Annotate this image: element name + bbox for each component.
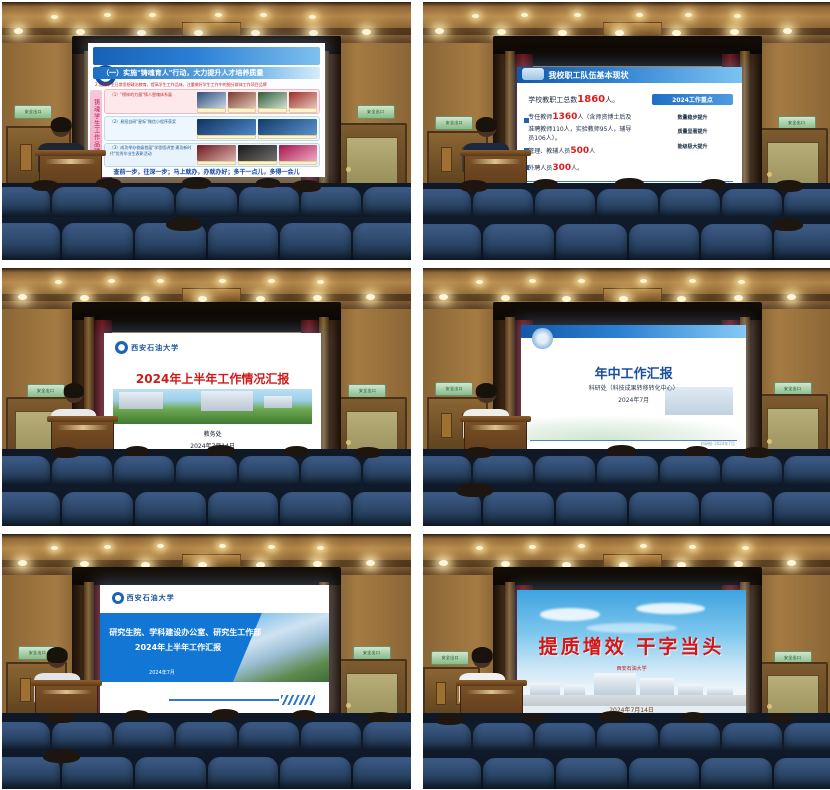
university-logo: 西安石油大学 [115, 341, 179, 355]
audience-area [2, 449, 411, 526]
block-title: （2）易班自研"星标"微信小程序获奖 [110, 119, 196, 125]
slide1-block-2: （2）易班自研"星标"微信小程序获奖 [104, 116, 320, 141]
photo-panel-6: 安全出口 安全出口 提质增效 干字当头 西安石油大学 [423, 534, 830, 789]
exit-sign-label: 安全出口 [37, 388, 54, 394]
projection-screen: 我校职工队伍基本现状 学校教职工总数1860人。 专任教师1360人（含师资博士… [517, 67, 742, 191]
exit-sign-right: 安全出口 [774, 382, 812, 396]
slide-content-3: 西安石油大学 2024年上半年工作情况汇报 教务处 2024年7月14日 [104, 333, 321, 457]
projection-screen: 一、工作任务完成情况 （一）实施"铸魂育人"行动，大力提升人才培养质量 2.加强… [88, 43, 325, 177]
slide2-header: 我校职工队伍基本现状 [549, 70, 629, 81]
photo-panel-5: 安全出口 安全出口 西安石油大学 研究生院、学科建设办公室、研究生工作部 202… [2, 534, 411, 789]
exit-sign-label: 安全出口 [363, 650, 380, 656]
projection-screen: 提质增效 干字当头 西安石油大学 2024年7月14日 [517, 590, 746, 718]
slide2-right-header: 2024工作重点 [652, 94, 733, 105]
hatch-decoration [281, 695, 315, 705]
slide5-date: 2024年7月 [109, 669, 214, 676]
exit-sign-label: 安全出口 [367, 109, 384, 115]
photo-panel-1: 安全出口 安全出口 一、工作任务完成情况 （一）实施"铸魂育人"行动，大力提升人… [2, 2, 411, 260]
slide1-block-1: （1）"榜样的力量"铸人塑魂体系展 [104, 89, 320, 114]
projection-screen: 年中工作汇报 科研处（科技成果转移转化中心） 2024年7月 科研处 2024年… [521, 325, 746, 449]
exit-sign-label: 安全出口 [446, 120, 463, 126]
slide2-right-item-3: 能级极大提升 [652, 143, 733, 150]
slide1-red-note: 2.加强学生日常思想政治教育，提高学生工作品味，注重做好学生工作中的细分群体工作… [95, 82, 318, 88]
slide2-bullet-3: 外聘人员300人。 [528, 163, 636, 173]
exit-sign-label: 安全出口 [784, 386, 801, 392]
university-mark-icon [115, 341, 128, 354]
slide5-line2: 2024年上半年工作汇报 [109, 642, 246, 653]
university-mark-icon [112, 592, 124, 604]
block-title: （3）成功举办校级首届"学思悟讲堂·建功新时代"优秀毕业生表彰活动 [110, 145, 196, 157]
audience-area [2, 183, 411, 260]
exit-sign-label: 安全出口 [784, 655, 801, 661]
slide3-title: 2024年上半年工作情况汇报 [115, 370, 310, 387]
slide3-org: 教务处 [104, 429, 321, 438]
slide2-lead: 学校教职工总数1860人。 [528, 94, 619, 105]
slide-content-1: 一、工作任务完成情况 （一）实施"铸魂育人"行动，大力提升人才培养质量 2.加强… [88, 43, 325, 177]
audience-area [423, 449, 830, 526]
exit-sign-label: 安全出口 [788, 120, 805, 126]
slide4-title: 年中工作汇报 [521, 363, 746, 382]
slide4-footnote: 科研处 2024年7月 [701, 441, 735, 447]
slide4-org: 科研处（科技成果转移转化中心） [521, 383, 746, 392]
projection-screen: 西安石油大学 2024年上半年工作情况汇报 教务处 2024年7月14日 [104, 333, 321, 457]
slide1-footer: 查前一步，往深一步；马上就办，办就办好；多干一点儿，多得一会儿 [93, 167, 321, 176]
projection-screen: 西安石油大学 研究生院、学科建设办公室、研究生工作部 2024年上半年工作汇报 … [100, 585, 329, 713]
slide6-slogan: 提质增效 干字当头 [517, 632, 746, 659]
exit-sign-left: 安全出口 [14, 105, 52, 119]
audience-area [423, 713, 830, 790]
photo-panel-4: 安全出口 安全出口 年中工作汇报 科研处（科技成果转移转化中心） 2024年7月… [423, 268, 830, 526]
audience-area [2, 713, 411, 790]
exit-sign-right: 安全出口 [348, 384, 386, 398]
exit-sign-right: 安全出口 [357, 105, 395, 119]
audience-area [423, 183, 830, 260]
slide2-right-item-1: 数量稳步提升 [652, 114, 733, 121]
exit-sign-label: 安全出口 [442, 655, 459, 661]
slide-content-2: 我校职工队伍基本现状 学校教职工总数1860人。 专任教师1360人（含师资博士… [517, 67, 742, 191]
block-title: （1）"榜样的力量"铸人塑魂体系展 [110, 92, 196, 98]
photo-panel-3: 安全出口 安全出口 西安石油大学 2024年上半年工作情况汇报 教务处 20 [2, 268, 411, 526]
slide-content-6: 提质增效 干字当头 西安石油大学 2024年7月14日 [517, 590, 746, 718]
photo-grid: 安全出口 安全出口 一、工作任务完成情况 （一）实施"铸魂育人"行动，大力提升人… [0, 0, 830, 790]
university-name: 西安石油大学 [131, 343, 179, 353]
campus-photo [113, 389, 312, 424]
slide2-bullet-2: 管理、教辅人员500人 [528, 146, 636, 156]
exit-sign-right: 安全出口 [778, 116, 816, 130]
slide-content-4: 年中工作汇报 科研处（科技成果转移转化中心） 2024年7月 科研处 2024年… [521, 325, 746, 449]
campus-skyline [526, 669, 737, 697]
hill-graphic [521, 415, 746, 440]
avatar [532, 328, 552, 348]
exit-sign-label: 安全出口 [359, 388, 376, 394]
slide1-subheader: （一）实施"铸魂育人"行动，大力提升人才培养质量 [93, 67, 321, 79]
slide1-block-3: （3）成功举办校级首届"学思悟讲堂·建功新时代"优秀毕业生表彰活动 [104, 143, 320, 167]
exit-sign-label: 安全出口 [446, 386, 463, 392]
slide2-bullet-1: 专任教师1360人（含师资博士后及准聘教师110人，实验教师95人，辅导员106… [528, 111, 636, 143]
slide5-line1: 研究生院、学科建设办公室、研究生工作部 [109, 627, 246, 638]
university-name: 西安石油大学 [127, 593, 175, 603]
exit-sign-label: 安全出口 [25, 109, 42, 115]
slide4-date: 2024年7月 [521, 395, 746, 404]
university-logo: 西安石油大学 [112, 591, 175, 605]
slide-content-5: 西安石油大学 研究生院、学科建设办公室、研究生工作部 2024年上半年工作汇报 … [100, 585, 329, 713]
photo-panel-2: 安全出口 安全出口 我校职工队伍基本现状 学校教职工总数1860人。 专任教师1… [423, 2, 830, 260]
slide2-right-item-2: 质量显著提升 [652, 128, 733, 135]
